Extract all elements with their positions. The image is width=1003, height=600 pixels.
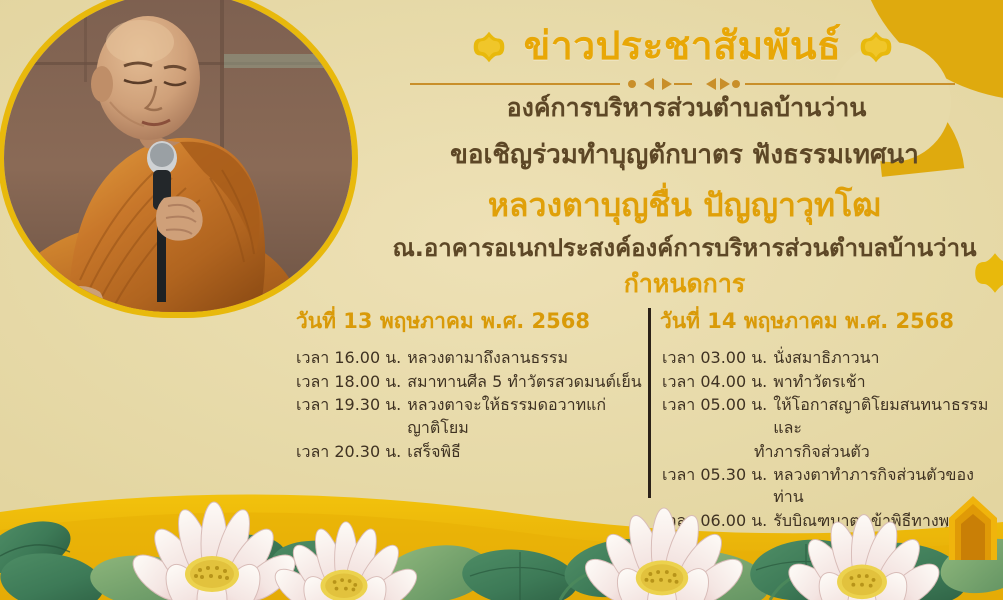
announcement-poster: ข่าวประชาสัมพันธ์ องค์การบริหารส่วนตำบลบ…	[0, 0, 1003, 600]
schedule-item-time: เวลา 16.00 น.	[296, 347, 407, 370]
invitation-line: ขอเชิญร่วมทำบุญตักบาตร ฟังธรรมเทศนา	[183, 134, 1003, 175]
schedule-item-text: พาทำวัตรเช้า	[773, 371, 992, 394]
schedule-item: เวลา 20.30 น. เสร็จพิธี	[296, 441, 644, 464]
schedule-column-day1: วันที่ 13 พฤษภาคม พ.ศ. 2568 เวลา 16.00 น…	[296, 305, 644, 465]
organization-name: องค์การบริหารส่วนตำบลบ้านว่าน	[185, 88, 1003, 128]
schedule-item-time: เวลา 20.30 น.	[296, 441, 407, 464]
schedule-item-text: สมาทานศีล 5 ทำวัตรสวดมนต์เย็น	[407, 371, 644, 394]
schedule-item-time: เวลา 18.00 น.	[296, 371, 407, 394]
schedule-date-day2: วันที่ 14 พฤษภาคม พ.ศ. 2568	[660, 305, 992, 338]
venue-line: ณ.อาคารอเนกประสงค์องค์การบริหารส่วนตำบลบ…	[183, 228, 1003, 267]
schedule-item-text: หลวงตาจะให้ธรรมดอวาทแก่ญาติโยม	[407, 394, 644, 439]
schedule-item: เวลา 03.00 น. นั่งสมาธิภาวนา	[662, 347, 992, 370]
schedule-item-text: ให้โอกาสญาติโยมสนทนาธรรมและ	[773, 394, 992, 439]
schedule-item: เวลา 04.00 น. พาทำวัตรเช้า	[662, 371, 992, 394]
page-title: ข่าวประชาสัมพันธ์	[524, 26, 842, 69]
schedule-item: เวลา 05.00 น. ให้โอกาสญาติโยมสนทนาธรรมแล…	[662, 394, 992, 439]
monk-name: หลวงตาบุญชื่น ปัญญาวุทโฒ	[183, 180, 1003, 231]
schedule-heading: กำหนดการ	[183, 264, 1003, 304]
schedule-item: เวลา 16.00 น. หลวงตามาถึงลานธรรม	[296, 347, 644, 370]
schedule-item-time: เวลา 03.00 น.	[662, 347, 773, 370]
quatrefoil-ornament-icon	[973, 250, 1003, 296]
schedule-item: เวลา 18.00 น. สมาทานศีล 5 ทำวัตรสวดมนต์เ…	[296, 371, 644, 394]
schedule-item-time: เวลา 04.00 น.	[662, 371, 773, 394]
quatrefoil-ornament-icon	[472, 30, 506, 64]
schedule-date-day1: วันที่ 13 พฤษภาคม พ.ศ. 2568	[296, 305, 644, 338]
quatrefoil-ornament-icon	[859, 30, 893, 64]
schedule-item-text: หลวงตามาถึงลานธรรม	[407, 347, 644, 370]
headline-row: ข่าวประชาสัมพันธ์	[370, 26, 995, 69]
schedule-item-time: เวลา 05.00 น.	[662, 394, 773, 439]
schedule-item-continuation: ทำภารกิจส่วนตัว	[662, 441, 992, 464]
lotus-decoration-band	[0, 470, 1003, 600]
schedule-item-text: นั่งสมาธิภาวนา	[773, 347, 992, 370]
schedule-item-text: เสร็จพิธี	[407, 441, 644, 464]
thai-temple-gable-icon	[947, 496, 999, 560]
schedule-item: เวลา 19.30 น. หลวงตาจะให้ธรรมดอวาทแก่ญาต…	[296, 394, 644, 439]
schedule-item-time: เวลา 19.30 น.	[296, 394, 407, 439]
